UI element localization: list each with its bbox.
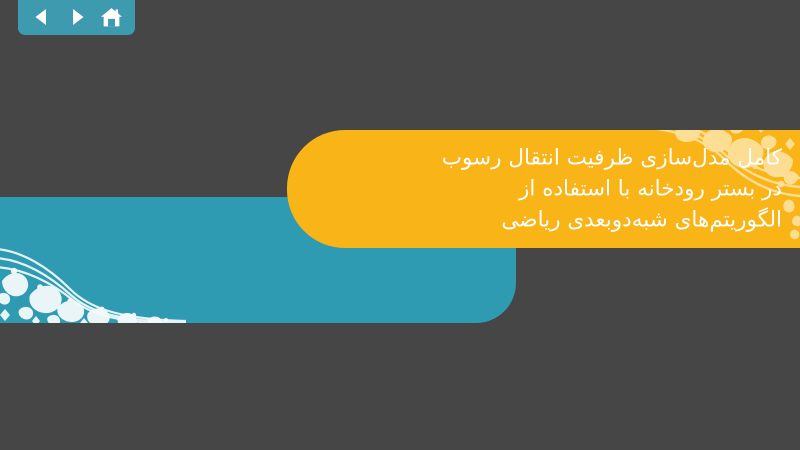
slide-title: کامل مدل‌سازی ظرفیت انتقال رسوب در بستر … bbox=[342, 143, 782, 236]
arabesque-ornament-icon bbox=[0, 197, 186, 323]
back-triangle-icon bbox=[31, 6, 53, 28]
next-slide-button[interactable] bbox=[64, 4, 90, 30]
title-line-2: در بستر رودخانه با استفاده از bbox=[342, 174, 782, 205]
slide-navigation-bar[interactable] bbox=[18, 0, 135, 35]
home-slide-button[interactable] bbox=[99, 4, 125, 30]
slide-title-band: کامل مدل‌سازی ظرفیت انتقال رسوب در بستر … bbox=[287, 130, 800, 248]
forward-triangle-icon bbox=[66, 6, 88, 28]
presentation-slide: کامل مدل‌سازی ظرفیت انتقال رسوب در بستر … bbox=[0, 0, 800, 450]
previous-slide-button[interactable] bbox=[29, 4, 55, 30]
title-line-3: الگوریتم‌های شبه‌دوبعدی ریاضی bbox=[342, 205, 782, 236]
home-icon bbox=[100, 6, 123, 29]
title-line-1: کامل مدل‌سازی ظرفیت انتقال رسوب bbox=[342, 143, 782, 174]
